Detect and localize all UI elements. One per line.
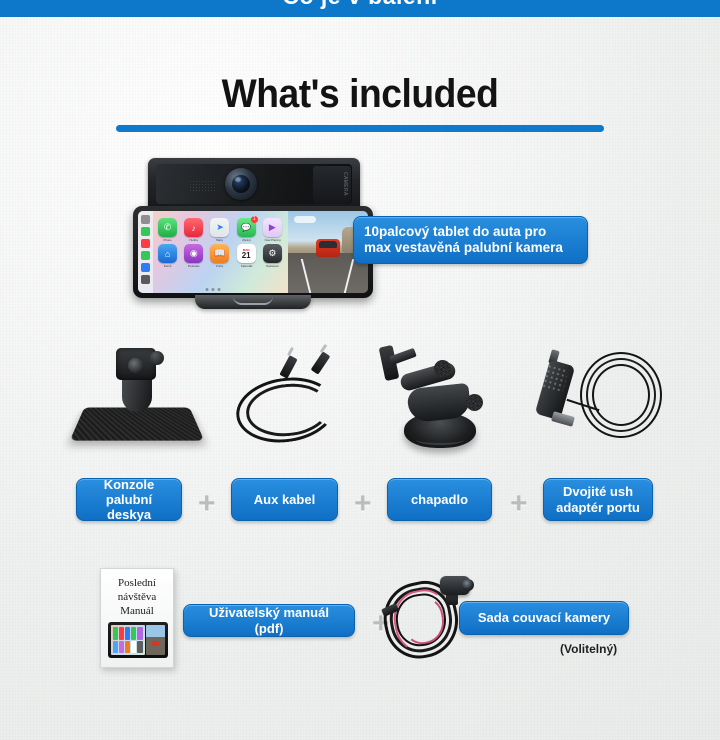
main-product-label: 10palcový tablet do auta pro max vestavě… [353,216,588,264]
home-icon: ⌂ [158,244,177,263]
infographic-page: Co je v balení What's included CAMERA [0,0,720,740]
sidebar-more-icon [141,275,150,284]
status-icon [141,215,150,224]
charger-usb-ports [551,411,575,427]
carplay-app: ♪ Hudba [182,218,205,242]
aux-cable-image [232,344,344,452]
page-title: What's included [25,72,695,117]
carplay-app: 💬 1 Zprávy [235,218,258,242]
manual-photo-rearview [146,625,165,655]
cloud [294,216,316,223]
dashboard-console-image [78,342,196,454]
camera-lens-icon [462,579,474,591]
user-manual-image: Poslední návštěva Manuál [100,568,174,668]
sidebar-maps-icon [141,263,150,272]
mount-knob [434,360,451,377]
manual-label: Uživatelský manuál (pdf) [183,604,355,637]
charger-label-line2: adaptér portu [556,500,640,515]
plus-separator: + [198,489,216,519]
charger-label: Dvojité ush adaptér portu [543,478,653,521]
car-charger-image [536,344,676,454]
manual-cover: Poslední návštěva Manuál [100,568,174,668]
carplay-app: ➤ Mapy [208,218,231,242]
console-knob [150,351,164,365]
console-ball-socket [128,358,143,373]
device-screen-housing: ✆ Phone ♪ Hudba ➤ Mapy [133,206,373,298]
device-screen: ✆ Phone ♪ Hudba ➤ Mapy [138,211,368,293]
aux-label: Aux kabel [231,478,338,521]
console-pad [70,407,204,440]
carplay-app: 📖 Knihy [208,244,231,268]
plus-separator: + [510,489,528,519]
carplay-app-grid: ✆ Phone ♪ Hudba ➤ Mapy [156,218,284,268]
manual-photo-carplay [111,625,145,655]
main-product-image: CAMERA [133,158,373,310]
manual-cover-photo [108,622,168,658]
carplay-app: ✆ Phone [156,218,179,242]
mount-knob [466,394,483,411]
top-banner-text: Co je v balení [0,0,720,9]
carplay-app: ◉ Podcasts [182,244,205,268]
now-playing-icon: ▶ [263,218,282,237]
manual-cover-text: Poslední návštěva Manuál [101,577,173,618]
car-ahead [316,239,340,257]
calendar-icon: MAR 21 [237,244,256,263]
aux-label-text: Aux kabel [254,492,315,507]
console-label-line1: Konzole [104,477,155,492]
charger-label-line1: Dvojité ush [563,484,633,499]
device-speaker-grille [189,180,215,193]
top-banner: Co je v balení [0,0,720,17]
device-brand-text: CAMERA [342,172,348,196]
aux-plug [311,351,331,374]
carplay-app: MAR 21 Kalendář [235,244,258,268]
manual-line2: návštěva [118,591,156,603]
sidebar-music-icon [141,239,150,248]
grip-label-text: chapadlo [411,492,468,507]
sidebar-phone-icon [141,227,150,236]
manual-label-text: Uživatelský manuál (pdf) [194,605,344,636]
manual-line3: Manuál [120,605,154,617]
carplay-sidebar [138,211,153,293]
optional-note: (Volitelný) [560,642,617,656]
carplay-app: ▶ Now Playing [261,218,284,242]
messages-badge: 1 [251,216,258,223]
sidebar-messages-icon [141,251,150,260]
dot [206,288,209,291]
carplay-app: ⚙ Nastavení [261,244,284,268]
suction-mount-image [374,338,502,456]
reversing-camera-label-text: Sada couvací kamery [478,610,610,625]
aux-plug [279,355,297,379]
carplay-screen: ✆ Phone ♪ Hudba ➤ Mapy [138,211,288,293]
reversing-camera-label: Sada couvací kamery [459,601,629,635]
dot [218,288,221,291]
lens-highlight [235,177,241,182]
manual-line1: Poslední [118,577,156,589]
device-stand [195,295,311,309]
page-dots [206,288,221,291]
plus-separator: + [354,489,372,519]
dot [212,288,215,291]
messages-icon: 💬 1 [237,218,256,237]
console-label-line2: palubní deskya [106,492,152,522]
console-label: Konzole palubní deskya [76,478,182,521]
grip-label: chapadlo [387,478,492,521]
maps-icon: ➤ [210,218,229,237]
phone-icon: ✆ [158,218,177,237]
carplay-app: ⌂ Domů [156,244,179,268]
page-heading: What's included [0,72,720,132]
heading-underline [116,125,604,132]
main-product-label-text: 10palcový tablet do auta pro max vestavě… [364,224,577,256]
books-icon: 📖 [210,244,229,263]
podcasts-icon: ◉ [184,244,203,263]
music-icon: ♪ [184,218,203,237]
cable-coil [592,364,650,426]
settings-icon: ⚙ [263,244,282,263]
